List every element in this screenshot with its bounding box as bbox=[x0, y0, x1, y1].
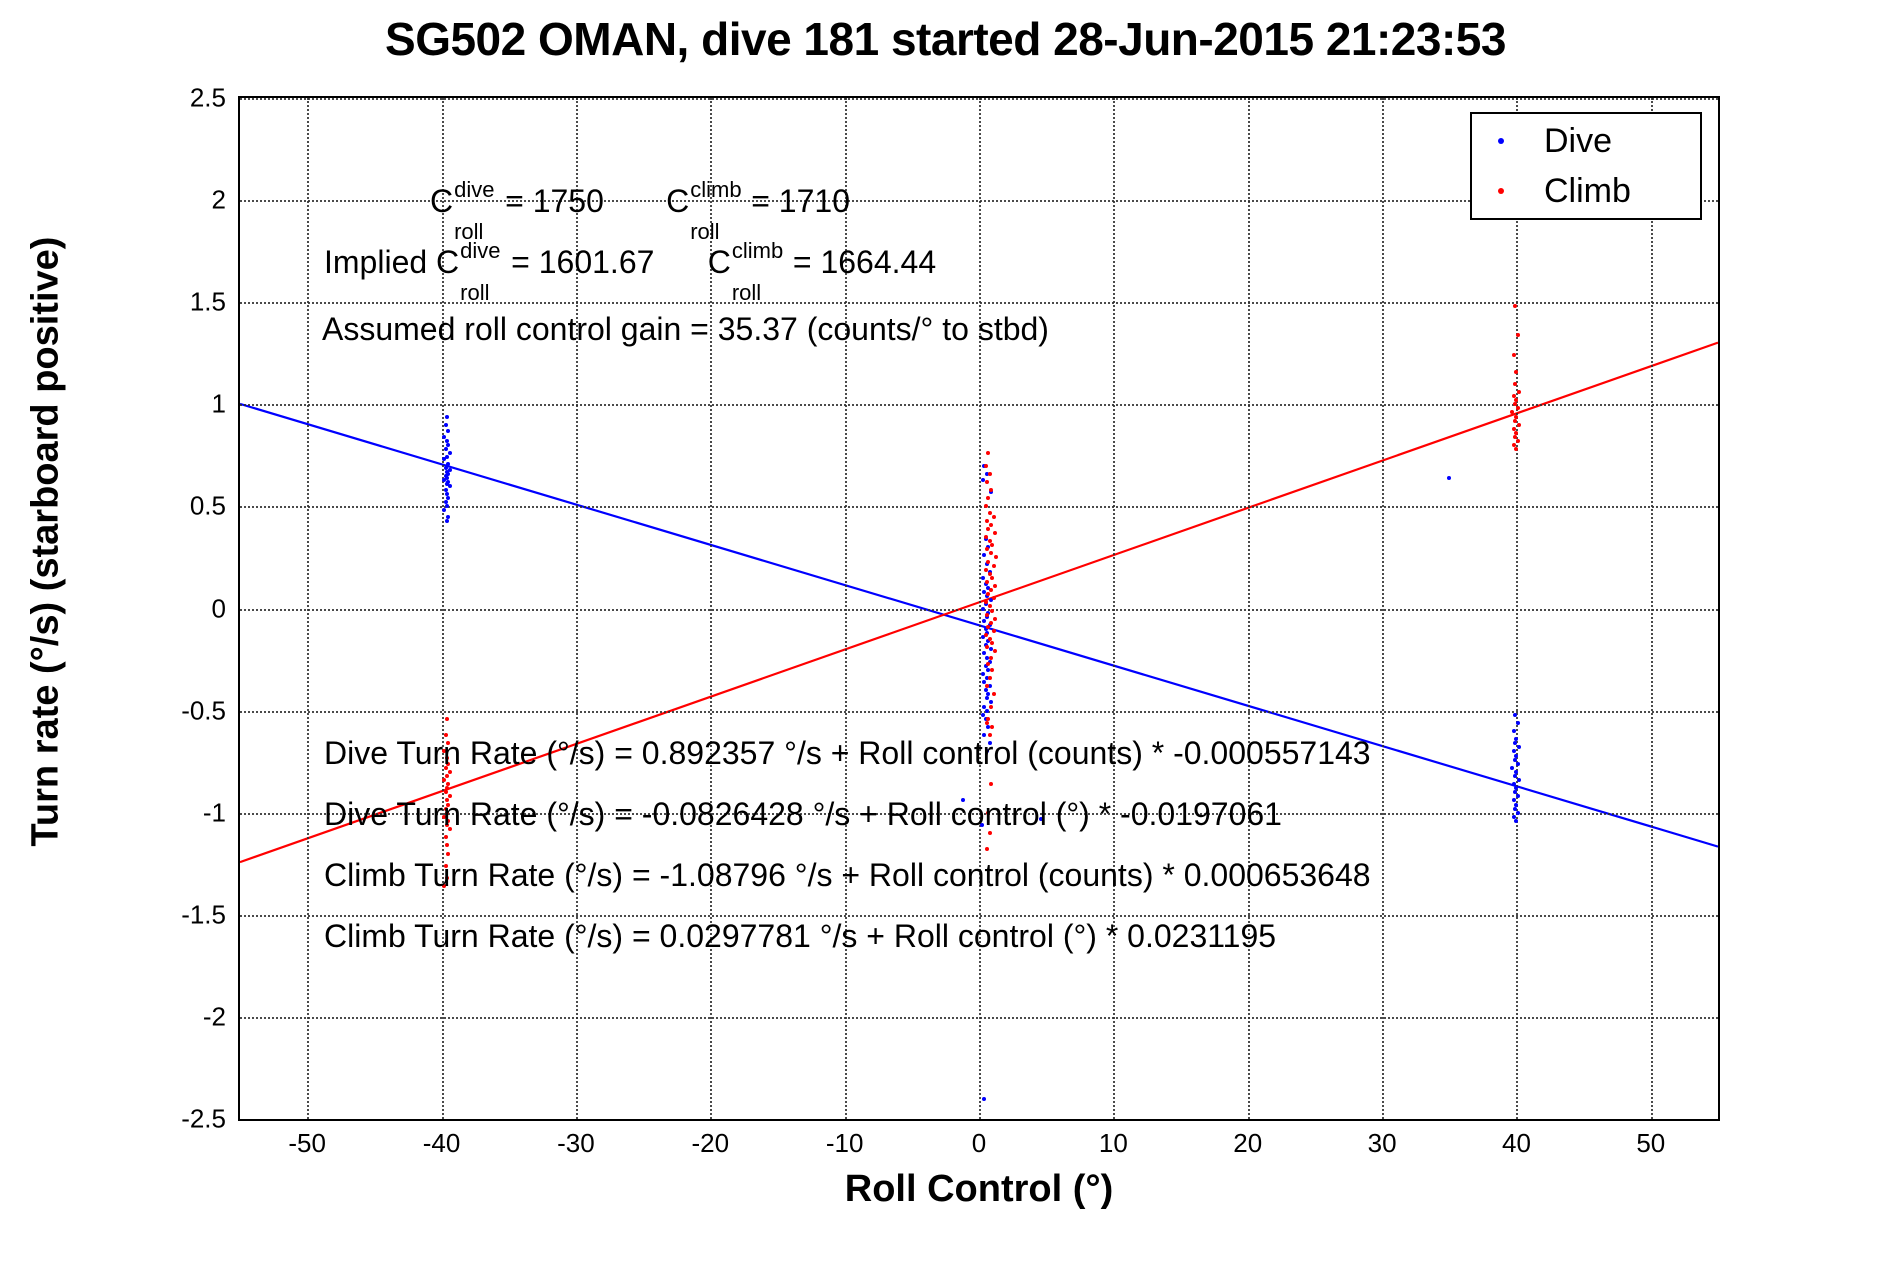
data-point-climb bbox=[445, 717, 449, 721]
x-tick-label: 20 bbox=[1188, 1128, 1308, 1159]
data-point-dive bbox=[1512, 729, 1516, 733]
data-point-climb bbox=[988, 511, 992, 515]
y-tick-label: 0 bbox=[106, 593, 226, 624]
data-point-climb bbox=[1516, 439, 1520, 443]
data-point-dive bbox=[982, 705, 986, 709]
data-point-dive bbox=[444, 447, 448, 451]
data-point-dive bbox=[985, 709, 989, 713]
x-tick-label: -30 bbox=[516, 1128, 636, 1159]
y-tick-label: -2.5 bbox=[106, 1104, 226, 1135]
data-point-climb bbox=[1513, 419, 1517, 423]
c-dive-symbol: C bbox=[430, 183, 453, 219]
equation-climb-degrees: Climb Turn Rate (°/s) = 0.0297781 °/s + … bbox=[324, 920, 1276, 952]
x-tick-label: 10 bbox=[1053, 1128, 1173, 1159]
data-point-dive bbox=[981, 607, 985, 611]
data-point-climb bbox=[1517, 423, 1521, 427]
gridline-horizontal bbox=[240, 506, 1718, 508]
plot-area: Dive Climb Cdiveroll= 1750 Cclimbroll= 1… bbox=[238, 96, 1720, 1121]
data-point-climb bbox=[1516, 333, 1520, 337]
data-point-climb bbox=[444, 790, 448, 794]
equation-dive-counts: Dive Turn Rate (°/s) = 0.892357 °/s + Ro… bbox=[324, 737, 1371, 769]
gridline-horizontal bbox=[240, 915, 1718, 917]
y-tick-label: -0.5 bbox=[106, 695, 226, 726]
c-climb-value: = 1710 bbox=[751, 183, 850, 219]
y-tick-label: 1.5 bbox=[106, 287, 226, 318]
x-tick-label: 0 bbox=[919, 1128, 1039, 1159]
data-point-dive bbox=[1513, 713, 1517, 717]
data-point-dive bbox=[1516, 721, 1520, 725]
data-point-climb bbox=[992, 629, 996, 633]
y-tick-label: -1.5 bbox=[106, 899, 226, 930]
data-point-dive bbox=[1513, 758, 1517, 762]
data-point-climb bbox=[985, 480, 989, 484]
annotation-line-1: Cdiveroll= 1750 Cclimbroll= 1710 bbox=[430, 185, 850, 217]
c-dive-value-implied: = 1601.67 bbox=[511, 244, 654, 280]
data-point-dive bbox=[444, 466, 448, 470]
data-point-climb bbox=[989, 523, 993, 527]
data-point-dive bbox=[448, 484, 452, 488]
data-point-climb bbox=[992, 515, 996, 519]
legend-item-dive: Dive bbox=[1472, 116, 1700, 166]
x-tick-label: 40 bbox=[1456, 1128, 1576, 1159]
gridline-horizontal bbox=[240, 711, 1718, 713]
y-axis-label: Turn rate (°/s) (starboard positive) bbox=[25, 92, 68, 992]
data-point-climb bbox=[989, 656, 993, 660]
y-tick-label: -1 bbox=[106, 797, 226, 828]
y-tick-label: 1 bbox=[106, 389, 226, 420]
x-tick-label: -50 bbox=[247, 1128, 367, 1159]
equation-climb-counts: Climb Turn Rate (°/s) = -1.08796 °/s + R… bbox=[324, 859, 1371, 891]
data-point-climb bbox=[988, 676, 992, 680]
x-tick-label: 50 bbox=[1591, 1128, 1711, 1159]
data-point-climb bbox=[444, 835, 448, 839]
data-point-climb bbox=[985, 580, 989, 584]
data-point-climb bbox=[984, 633, 988, 637]
c-climb-value-implied: = 1664.44 bbox=[793, 244, 936, 280]
x-tick-label: -10 bbox=[785, 1128, 905, 1159]
data-point-climb bbox=[984, 568, 988, 572]
y-tick-label: 0.5 bbox=[106, 491, 226, 522]
data-point-dive bbox=[444, 423, 448, 427]
data-point-climb bbox=[993, 617, 997, 621]
x-tick-label: 30 bbox=[1322, 1128, 1442, 1159]
data-point-climb bbox=[988, 472, 992, 476]
legend-marker-dive-icon bbox=[1498, 138, 1504, 144]
c-climb-symbol-implied: C bbox=[708, 244, 731, 280]
c-dive-value: = 1750 bbox=[505, 183, 604, 219]
c-dive-symbol-implied: C bbox=[436, 244, 459, 280]
data-point-climb bbox=[446, 852, 450, 856]
gridline-horizontal bbox=[240, 404, 1718, 406]
x-axis-label: Roll Control (°) bbox=[238, 1168, 1720, 1211]
chart-title: SG502 OMAN, dive 181 started 28-Jun-2015… bbox=[0, 12, 1891, 66]
data-point-dive bbox=[1513, 807, 1517, 811]
legend-item-climb: Climb bbox=[1472, 166, 1700, 216]
gridline-horizontal bbox=[240, 609, 1718, 611]
implied-prefix: Implied bbox=[324, 244, 427, 280]
data-point-climb bbox=[985, 613, 989, 617]
annotation-line-3: Assumed roll control gain = 35.37 (count… bbox=[322, 313, 1049, 345]
data-point-climb bbox=[989, 705, 993, 709]
data-point-dive bbox=[445, 415, 449, 419]
data-point-dive bbox=[981, 672, 985, 676]
data-point-climb bbox=[985, 721, 989, 725]
y-tick-label: -2 bbox=[106, 1001, 226, 1032]
data-point-dive bbox=[1516, 762, 1520, 766]
legend: Dive Climb bbox=[1470, 112, 1702, 220]
x-tick-label: -20 bbox=[650, 1128, 770, 1159]
c-climb-symbol: C bbox=[666, 183, 689, 219]
gridline-horizontal bbox=[240, 1017, 1718, 1019]
y-tick-label: 2.5 bbox=[106, 83, 226, 114]
data-point-climb bbox=[984, 535, 988, 539]
data-point-climb bbox=[992, 564, 996, 568]
equation-dive-degrees: Dive Turn Rate (°/s) = -0.0826428 °/s + … bbox=[324, 798, 1282, 830]
data-point-dive bbox=[445, 519, 449, 523]
data-point-climb bbox=[445, 774, 449, 778]
legend-marker-climb-icon bbox=[1498, 188, 1504, 194]
legend-label-dive: Dive bbox=[1544, 124, 1612, 158]
legend-label-climb: Climb bbox=[1544, 174, 1631, 208]
x-tick-label: -40 bbox=[382, 1128, 502, 1159]
data-point-climb bbox=[989, 621, 993, 625]
data-point-climb bbox=[1513, 382, 1517, 386]
data-point-dive bbox=[981, 713, 985, 717]
y-tick-label: 2 bbox=[106, 185, 226, 216]
annotation-line-2: Implied Cdiveroll= 1601.67 Cclimbroll= 1… bbox=[324, 246, 936, 278]
data-point-dive bbox=[1516, 811, 1520, 815]
data-point-dive bbox=[981, 576, 985, 580]
gridline-horizontal bbox=[240, 98, 1718, 100]
data-point-climb bbox=[984, 464, 988, 468]
data-point-climb bbox=[985, 519, 989, 523]
